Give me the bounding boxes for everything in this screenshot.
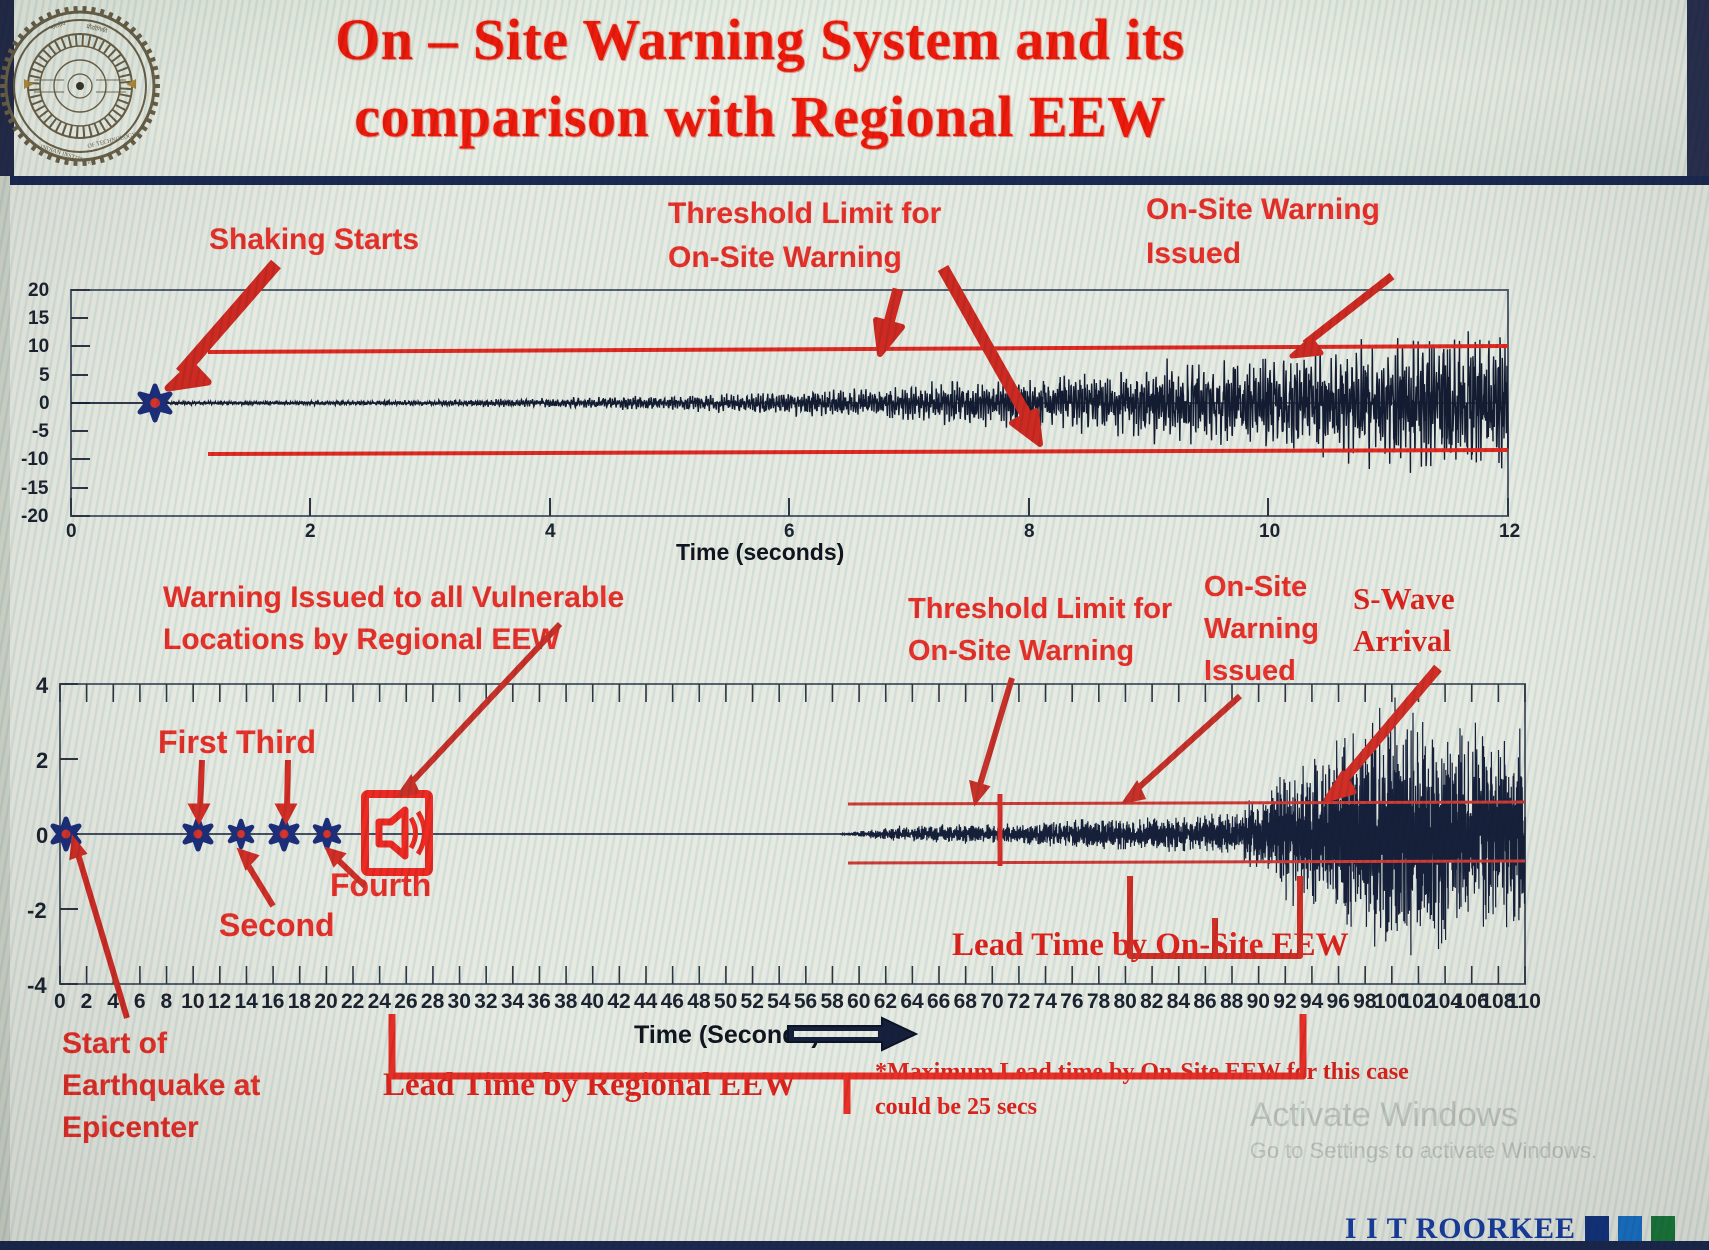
bottom-xtick-58: 58 — [820, 990, 843, 1014]
bottom-ytick-4: 4 — [36, 673, 48, 699]
bottom-xtick-40: 40 — [581, 990, 604, 1014]
arrow-threshold-to-lower-line — [943, 268, 1040, 444]
bottom-xtick-86: 86 — [1193, 990, 1216, 1014]
bottom-xtick-22: 22 — [341, 990, 364, 1014]
bottom-xtick-24: 24 — [368, 990, 391, 1014]
bracket-lead-time-onsite — [1130, 876, 1300, 956]
bottom-xtick-62: 62 — [874, 990, 897, 1014]
shaking-starts-star-marker — [140, 386, 170, 420]
top-chart-xaxis-title: Time (seconds) — [676, 539, 844, 566]
top-chart: Shaking Starts Threshold Limit for On-Si… — [0, 176, 1709, 566]
bottom-xtick-16: 16 — [261, 990, 284, 1014]
header-right-edge — [1687, 0, 1709, 176]
bottom-xtick-94: 94 — [1300, 990, 1323, 1014]
bottom-xtick-66: 66 — [927, 990, 950, 1014]
bottom-xtick-56: 56 — [794, 990, 817, 1014]
top-ytick-m5: -5 — [32, 421, 49, 443]
bottom-xtick-92: 92 — [1273, 990, 1296, 1014]
slide-bottom-bar — [0, 1241, 1709, 1250]
arrow-fourth — [327, 849, 365, 886]
star-marker-second — [230, 821, 252, 847]
bottom-xtick-68: 68 — [954, 990, 977, 1014]
bottom-threshold-lower-line — [848, 861, 1525, 863]
bottom-xtick-row: 0246810121416182022242628303234363840424… — [0, 990, 1709, 1020]
bottom-xtick-8: 8 — [161, 990, 173, 1014]
top-xtick-4: 4 — [545, 521, 556, 543]
bottom-ytick-2: 2 — [36, 748, 48, 774]
bottom-xtick-30: 30 — [448, 990, 471, 1014]
bottom-xtick-50: 50 — [714, 990, 737, 1014]
bottom-xtick-76: 76 — [1060, 990, 1083, 1014]
bottom-xtick-42: 42 — [607, 990, 630, 1014]
bottom-xtick-28: 28 — [421, 990, 444, 1014]
bottom-xtick-0: 0 — [54, 990, 66, 1014]
slide-root: On – Site Warning System and its compari… — [0, 0, 1709, 1250]
top-ytick-m15: -15 — [21, 478, 48, 500]
iit-roorkee-seal-logo: भारतीय प्रौद्योगिकी INDIAN INSTITUTE OF … — [0, 6, 160, 166]
bottom-xtick-12: 12 — [208, 990, 231, 1014]
bottom-xtick-70: 70 — [980, 990, 1003, 1014]
arrow-shaking-starts — [168, 264, 276, 388]
star-marker-third — [271, 819, 297, 849]
top-ytick-20: 20 — [28, 280, 49, 302]
bottom-xtick-34: 34 — [501, 990, 524, 1014]
bottom-xtick-78: 78 — [1087, 990, 1110, 1014]
time-direction-arrow-icon — [786, 1018, 1006, 1058]
bottom-xtick-64: 64 — [900, 990, 923, 1014]
bottom-xtick-36: 36 — [527, 990, 550, 1014]
bottom-xtick-48: 48 — [687, 990, 710, 1014]
page-title: On – Site Warning System and its compari… — [170, 2, 1350, 155]
bottom-xtick-2: 2 — [81, 990, 93, 1014]
bottom-xtick-74: 74 — [1034, 990, 1057, 1014]
arrow-third — [277, 760, 295, 822]
brand-square-navy — [1585, 1216, 1609, 1242]
bottom-xtick-26: 26 — [394, 990, 417, 1014]
top-ytick-0: 0 — [39, 393, 50, 415]
bottom-xtick-38: 38 — [554, 990, 577, 1014]
brand-square-blue — [1618, 1216, 1642, 1242]
arrow-threshold-limit-top — [876, 289, 902, 354]
bottom-xtick-52: 52 — [741, 990, 764, 1014]
bottom-ytick-m2: -2 — [27, 898, 47, 924]
bottom-xtick-14: 14 — [234, 990, 257, 1014]
bottom-xtick-60: 60 — [847, 990, 870, 1014]
top-chart-plot — [0, 176, 1709, 566]
top-ytick-10: 10 — [28, 336, 49, 358]
bottom-xtick-32: 32 — [474, 990, 497, 1014]
bottom-xtick-44: 44 — [634, 990, 657, 1014]
arrow-onsite-warning-issued-bottom — [1124, 696, 1240, 802]
top-ytick-5: 5 — [39, 365, 50, 387]
top-xtick-2: 2 — [305, 521, 316, 543]
star-marker-first — [185, 819, 211, 849]
bottom-xtick-6: 6 — [134, 990, 146, 1014]
bottom-xtick-46: 46 — [661, 990, 684, 1014]
arrow-regional-warning — [398, 624, 560, 796]
page-title-line2: comparison with Regional EEW — [170, 79, 1350, 156]
bottom-xtick-4: 4 — [107, 990, 119, 1014]
bottom-xtick-80: 80 — [1113, 990, 1136, 1014]
arrow-first — [190, 760, 208, 822]
bottom-xtick-96: 96 — [1327, 990, 1350, 1014]
top-xtick-0: 0 — [66, 521, 77, 543]
bottom-xtick-88: 88 — [1220, 990, 1243, 1014]
top-threshold-lower-line — [208, 450, 1508, 454]
regional-warning-broadcast-icon — [365, 794, 429, 872]
bottom-xtick-72: 72 — [1007, 990, 1030, 1014]
top-xtick-8: 8 — [1024, 521, 1035, 543]
bottom-xtick-20: 20 — [314, 990, 337, 1014]
slide-header: On – Site Warning System and its compari… — [0, 0, 1709, 185]
top-xtick-10: 10 — [1259, 521, 1280, 543]
bottom-threshold-upper-line — [848, 802, 1525, 804]
bottom-xtick-54: 54 — [767, 990, 790, 1014]
star-marker-fourth — [315, 820, 339, 848]
bottom-xtick-90: 90 — [1247, 990, 1270, 1014]
top-ytick-m20: -20 — [21, 506, 48, 528]
bottom-xtick-18: 18 — [288, 990, 311, 1014]
svg-text:भारतीय: भारतीय — [48, 19, 67, 32]
arrow-second — [239, 850, 273, 906]
bottom-chart-plot — [0, 566, 1709, 1250]
bottom-xtick-110: 110 — [1507, 990, 1541, 1014]
top-ytick-15: 15 — [28, 308, 49, 330]
bottom-ytick-0: 0 — [36, 823, 48, 849]
bottom-xtick-84: 84 — [1167, 990, 1190, 1014]
brand-square-green — [1651, 1216, 1675, 1242]
top-xtick-12: 12 — [1499, 521, 1520, 543]
bottom-xtick-82: 82 — [1140, 990, 1163, 1014]
bottom-chart: Warning Issued to all Vulnerable Locatio… — [0, 566, 1709, 1250]
top-ytick-m10: -10 — [21, 449, 48, 471]
arrow-onsite-warning-issued-top — [1292, 276, 1392, 356]
page-title-line1: On – Site Warning System and its — [170, 2, 1350, 79]
bottom-xtick-10: 10 — [181, 990, 204, 1014]
